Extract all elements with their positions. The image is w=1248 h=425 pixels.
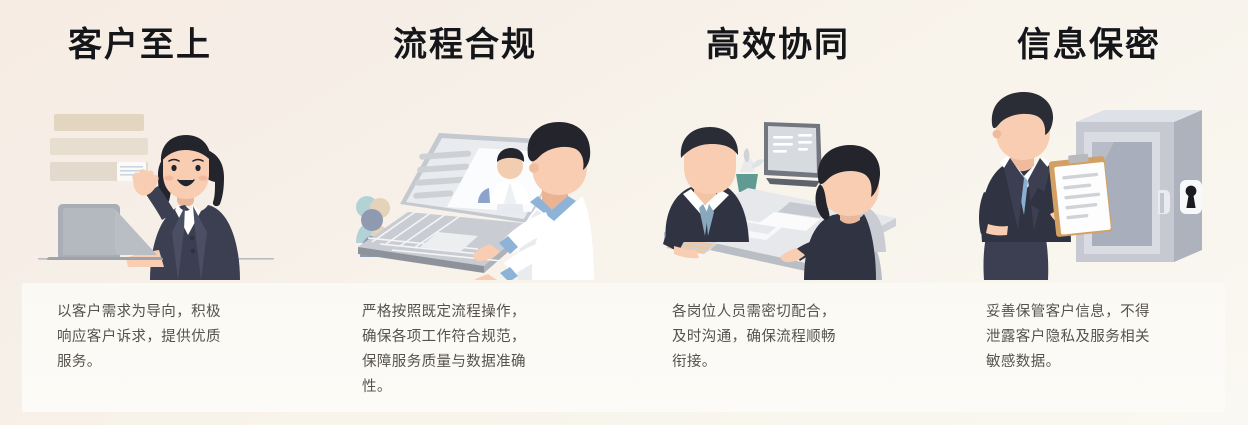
- value-card-efficient-collaboration: 高效协同: [624, 0, 936, 425]
- card-title: 高效协同: [624, 24, 936, 66]
- card-title: 客户至上: [0, 24, 312, 66]
- illustration-man-with-clipboard-and-safe: [936, 92, 1248, 280]
- value-card-process-compliance: 流程合规: [312, 0, 624, 425]
- illustration-two-people-meeting-table: [624, 92, 936, 280]
- card-description: 严格按照既定流程操作， 确保各项工作符合规范， 保障服务质量与数据准确 性。: [362, 300, 592, 400]
- service-values-banner: 客户至上: [0, 0, 1248, 425]
- value-card-information-confidentiality: 信息保密: [936, 0, 1248, 425]
- columns-container: 客户至上: [0, 0, 1248, 425]
- value-card-customer-first: 客户至上: [0, 0, 312, 425]
- card-title: 流程合规: [312, 24, 624, 66]
- card-description: 各岗位人员需密切配合， 及时沟通，确保流程顺畅 衔接。: [672, 300, 902, 375]
- illustration-woman-waving-at-laptop: [0, 92, 312, 280]
- card-title: 信息保密: [936, 24, 1248, 66]
- card-description: 以客户需求为导向，积极 响应客户诉求，提供优质 服务。: [57, 300, 287, 375]
- illustration-man-at-laptop-video-call: [312, 92, 624, 280]
- card-description: 妥善保管客户信息，不得 泄露客户隐私及服务相关 敏感数据。: [986, 300, 1216, 375]
